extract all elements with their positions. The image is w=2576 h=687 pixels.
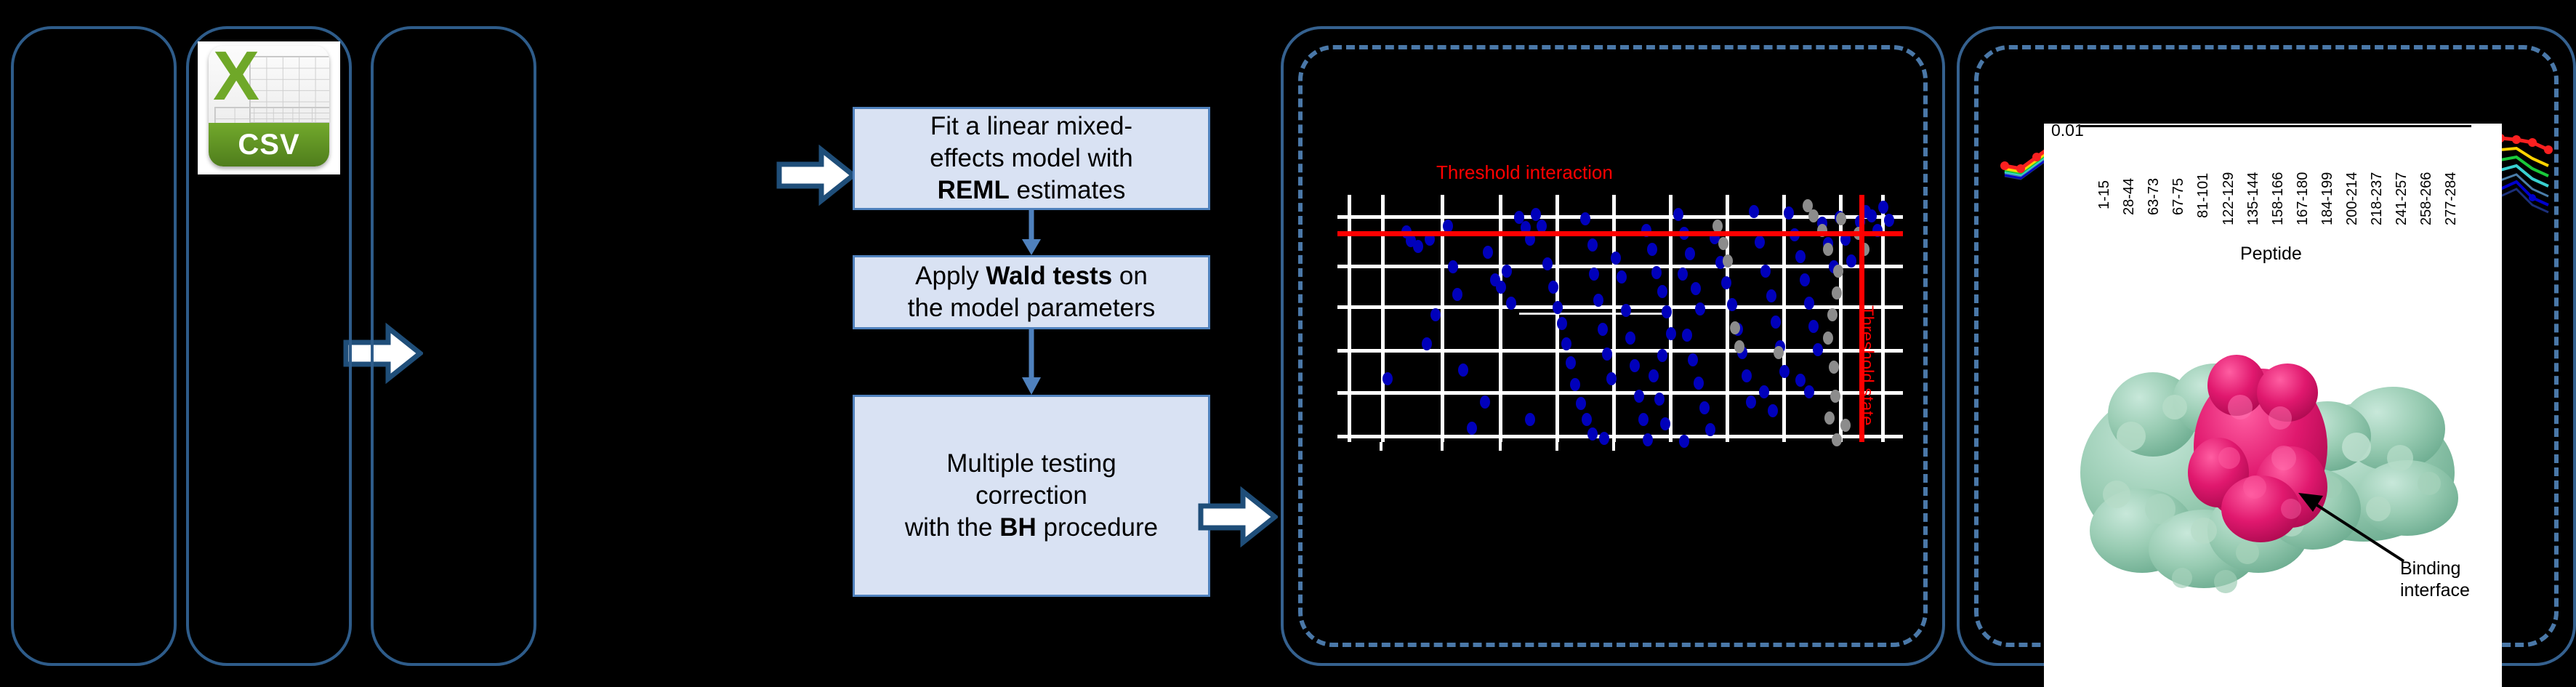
volcano-point (1705, 423, 1715, 436)
volcano-point-ns (1823, 332, 1833, 345)
peptide-tick-label: 167-180 (2295, 172, 2311, 225)
peptide-tick-label: 81-101 (2195, 173, 2212, 218)
volcano-point (1587, 427, 1598, 441)
binding-label-line2: interface (2400, 580, 2470, 600)
volcano-point-ns (1840, 419, 1851, 432)
volcano-point (1662, 305, 1672, 318)
volcano-point (1779, 365, 1790, 378)
csv-icon-plate: X CSV (198, 41, 340, 171)
peptide-tick-label: 218-237 (2369, 172, 2386, 225)
volcano-point (1630, 359, 1640, 372)
volcano-point (1617, 270, 1627, 284)
volcano-point (1531, 208, 1541, 221)
volcano-point (1867, 209, 1877, 222)
volcano-point (1660, 417, 1670, 430)
connector-fit-to-wald (1017, 210, 1046, 255)
peptide-tick-label: 1-15 (2096, 180, 2113, 209)
dotted-guide-segment (1519, 313, 1665, 315)
volcano-point (1651, 266, 1662, 279)
volcano-point (1621, 304, 1631, 317)
volcano-point (1749, 205, 1759, 218)
volcano-point (1599, 432, 1609, 445)
volcano-point (1800, 273, 1810, 286)
peptide-tick-label: 258-266 (2418, 172, 2435, 225)
volcano-point (1678, 268, 1688, 281)
volcano-point (1589, 268, 1599, 281)
volcano-point (1694, 377, 1704, 390)
volcano-point (1502, 265, 1512, 278)
csv-icon-x-letter: X (213, 49, 251, 104)
fit-line3-rest: estimates (1010, 176, 1126, 204)
volcano-point-ns (1718, 237, 1728, 250)
volcano-point (1679, 435, 1689, 448)
threshold-state-label: Threshold state (1856, 305, 1877, 425)
volcano-point (1625, 332, 1635, 345)
peptide-tick-label: 277-284 (2443, 172, 2460, 225)
volcano-point (1480, 395, 1490, 409)
threshold-interaction-line (1337, 231, 1903, 236)
volcano-point (1458, 363, 1468, 377)
volcano-point (1699, 401, 1710, 414)
volcano-point-ns (1836, 212, 1846, 225)
volcano-point (1576, 397, 1586, 410)
volcano-point-ns (1723, 254, 1733, 268)
peptide-tick-label: 63-73 (2146, 178, 2162, 215)
volcano-point (1561, 337, 1571, 350)
grid-line-h (1337, 265, 1903, 268)
volcano-point (1795, 374, 1806, 387)
volcano-point (1593, 294, 1603, 307)
volcano-point-ns (1730, 321, 1740, 334)
volcano-point-ns (1827, 308, 1838, 321)
step-wald-tests-box: Apply Wald tests on the model parameters (853, 255, 1210, 329)
volcano-point (1654, 393, 1665, 406)
volcano-point (1557, 317, 1567, 330)
volcano-point (1606, 372, 1617, 385)
volcano-point (1784, 206, 1794, 220)
volcano-point (1768, 404, 1778, 417)
volcano-point (1808, 320, 1819, 333)
volcano-point-ns (1832, 433, 1842, 446)
volcano-point (1884, 214, 1894, 227)
fit-line3-bold: REML (938, 176, 1010, 204)
volcano-point (1657, 349, 1667, 362)
step-fit-model-text: Fit a linear mixed- effects model with R… (930, 111, 1133, 206)
volcano-point (1721, 276, 1731, 289)
peptide-tick-label: 241-257 (2394, 172, 2410, 225)
connector-wald-to-bh (1017, 329, 1046, 395)
volcano-point (1448, 260, 1458, 273)
volcano-point (1746, 395, 1756, 409)
volcano-point (1813, 343, 1823, 356)
volcano-point (1483, 246, 1493, 259)
arrow-stats-to-volcano (1198, 486, 1278, 548)
csv-icon-extension-band: CSV (209, 123, 329, 166)
csv-icon-graphic: X CSV (209, 46, 329, 166)
peptide-tick-label: 28-44 (2121, 178, 2138, 215)
volcano-point (1452, 288, 1462, 301)
binding-label-line1: Binding (2400, 558, 2460, 579)
peptide-tick-label: 200-214 (2344, 172, 2361, 225)
volcano-point-ns (1808, 209, 1819, 222)
x-axis-line (2080, 125, 2471, 127)
volcano-point (1766, 289, 1776, 302)
workflow-diagram: X CSV Fit a linear mixed- effects model … (0, 0, 2576, 687)
volcano-point (1695, 302, 1705, 316)
volcano-point (1582, 413, 1592, 426)
volcano-point (1467, 422, 1477, 435)
wald-line2: the model parameters (908, 294, 1155, 322)
bh-line1: Multiple testing (946, 449, 1116, 478)
volcano-point-ns (1832, 286, 1842, 300)
volcano-point (1742, 369, 1752, 382)
volcano-point (1846, 254, 1856, 268)
volcano-point (1685, 247, 1695, 260)
grid-line-h (1337, 305, 1903, 309)
step-fit-model-box: Fit a linear mixed- effects model with R… (853, 107, 1210, 210)
volcano-point (1548, 281, 1558, 294)
volcano-point (1598, 323, 1608, 336)
binding-interface-label: Binding interface (2400, 558, 2470, 601)
volcano-point (1688, 353, 1698, 366)
arrow-csv-to-stats (776, 144, 856, 206)
volcano-point (1506, 297, 1516, 310)
volcano-point (1553, 301, 1563, 314)
volcano-point (1759, 385, 1769, 398)
volcano-point (1804, 297, 1814, 310)
volcano-point (1422, 337, 1432, 350)
volcano-plot-area (1337, 195, 1903, 442)
volcano-point (1382, 372, 1393, 385)
axis-tick (1441, 442, 1444, 451)
volcano-point-ns (1830, 390, 1840, 403)
wald-line1-bold: Wald tests (986, 262, 1112, 290)
volcano-point (1682, 329, 1692, 342)
volcano-point (1673, 208, 1683, 221)
axis-tick (1499, 442, 1502, 451)
volcano-point (1496, 281, 1506, 294)
volcano-point (1647, 243, 1657, 256)
volcano-point-ns (1829, 361, 1839, 374)
protein-structure-svg (2073, 291, 2466, 603)
bh-line3-pre: with the (905, 513, 999, 542)
volcano-point (1430, 308, 1441, 321)
step-bh-correction-box: Multiple testing correction with the BH … (853, 395, 1210, 597)
volcano-point (1587, 238, 1598, 252)
volcano-point (1542, 257, 1553, 270)
volcano-point-ns (1823, 243, 1833, 256)
volcano-point (1760, 265, 1771, 278)
csv-icon-extension-text: CSV (238, 129, 299, 161)
volcano-point (1878, 201, 1888, 214)
volcano-point (1580, 212, 1590, 225)
peptide-structure-card: 0.01 1-15 28-44 63-73 67-75 81-101 122-1… (2044, 124, 2502, 687)
volcano-point (1643, 433, 1653, 446)
volcano-point (1804, 385, 1814, 398)
volcano-point (1755, 236, 1765, 249)
volcano-point (1634, 390, 1644, 403)
bh-line3-post: procedure (1037, 513, 1158, 542)
volcano-point-ns (1824, 411, 1835, 425)
fit-line2: effects model with (930, 144, 1133, 172)
bh-line2: correction (975, 481, 1087, 510)
volcano-point (1666, 327, 1676, 340)
grid-line-h (1337, 391, 1903, 395)
step-bh-correction-text: Multiple testing correction with the BH … (905, 448, 1158, 544)
axis-tick (1555, 442, 1558, 451)
volcano-point (1657, 285, 1667, 298)
fit-line1: Fit a linear mixed- (930, 112, 1132, 140)
wald-line1-post: on (1112, 262, 1148, 290)
volcano-point (1727, 298, 1737, 311)
peptide-tick-label: 67-75 (2170, 178, 2187, 215)
x-axis-title: Peptide (2240, 244, 2302, 265)
volcano-point (1691, 282, 1701, 295)
y-axis-value: 0.01 (2051, 124, 2084, 140)
volcano-point (1795, 250, 1806, 263)
volcano-point-ns (1774, 346, 1784, 359)
grid-line-h (1337, 435, 1903, 438)
peptide-tick-label: 135-144 (2245, 172, 2262, 225)
volcano-point (1649, 369, 1659, 382)
volcano-point (1525, 413, 1535, 426)
peptide-tick-label: 122-129 (2221, 172, 2237, 225)
step-wald-tests-text: Apply Wald tests on the model parameters (908, 260, 1155, 324)
volcano-point (1413, 240, 1423, 253)
volcano-point (1602, 347, 1612, 361)
peptide-tick-label: 158-166 (2270, 172, 2287, 225)
volcano-point (1771, 316, 1781, 329)
panel-statistics (371, 26, 536, 666)
volcano-point-ns (1734, 340, 1744, 353)
protein-structure (2073, 291, 2466, 603)
volcano-point (1566, 356, 1576, 369)
threshold-interaction-label: Threshold interaction (1436, 161, 1613, 184)
volcano-point (1638, 413, 1649, 426)
volcano-point (1611, 252, 1621, 265)
volcano-point-ns (1833, 265, 1843, 278)
volcano-point (1570, 378, 1580, 391)
volcano-plot: Threshold interaction (1337, 167, 1912, 516)
panel-input (11, 26, 177, 666)
bh-line3-bold: BH (999, 513, 1037, 542)
peptide-tick-label: 184-199 (2319, 172, 2336, 225)
axis-tick (1380, 442, 1382, 451)
axis-tick (1612, 442, 1615, 451)
wald-line1-pre: Apply (915, 262, 986, 290)
